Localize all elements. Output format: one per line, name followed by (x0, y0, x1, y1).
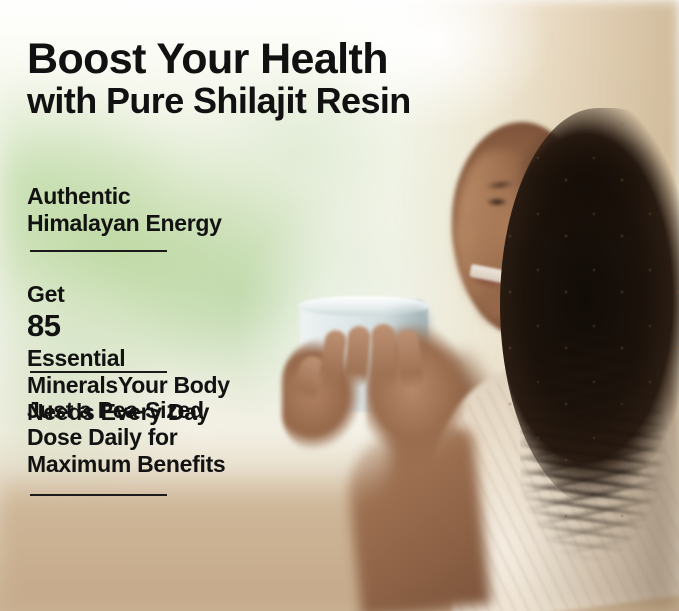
headline-line-2: with Pure Shilajit Resin (27, 81, 411, 121)
benefit-text-suffix: Essential (27, 345, 230, 372)
divider (30, 494, 167, 496)
text-overlay: Boost Your Health with Pure Shilajit Res… (0, 0, 679, 611)
benefit-line: Dose Daily for (27, 424, 225, 451)
benefit-line: Just a Pea-Sized (27, 397, 225, 424)
benefit-authentic-himalayan-energy: Authentic Himalayan Energy (27, 183, 222, 237)
benefit-line: Himalayan Energy (27, 210, 222, 237)
benefit-text-prefix: Get (27, 281, 230, 308)
benefit-line: Maximum Benefits (27, 451, 225, 478)
headline: Boost Your Health with Pure Shilajit Res… (27, 38, 411, 121)
benefit-line: Authentic (27, 183, 222, 210)
divider (30, 371, 167, 373)
benefit-line: Get 85 Essential (27, 281, 230, 372)
benefit-line: MineralsYour Body (27, 372, 230, 399)
headline-line-1: Boost Your Health (27, 38, 411, 81)
benefit-pea-sized-dose: Just a Pea-Sized Dose Daily for Maximum … (27, 397, 225, 478)
divider (30, 250, 167, 252)
mineral-count-emphasis: 85 (27, 308, 60, 343)
product-benefits-banner: Boost Your Health with Pure Shilajit Res… (0, 0, 679, 611)
